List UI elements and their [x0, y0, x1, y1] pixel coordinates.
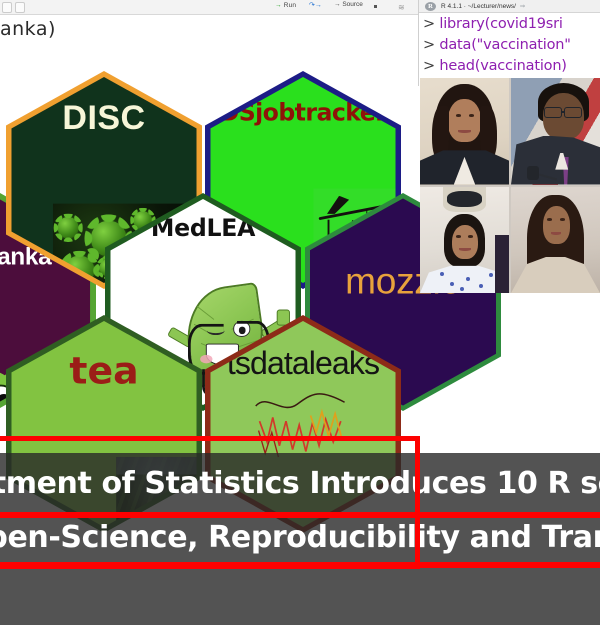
hex-label-dsjobtracker: DSjobtracker [210, 99, 395, 126]
rerun-button[interactable]: ↷→ [309, 1, 322, 9]
portrait-bottom-right [511, 187, 600, 294]
outline-icon[interactable]: ≋ [398, 3, 405, 12]
portrait-top-right [511, 78, 600, 185]
source-label: Source [342, 1, 363, 8]
source-button[interactable]: → Source [334, 1, 363, 8]
console-line: > data("vaccination" [423, 35, 600, 56]
rerun-icon: ↷→ [309, 2, 322, 9]
hex-label-tea: tea [11, 349, 196, 392]
portrait-bottom-left [420, 187, 509, 294]
open-directory-icon[interactable]: ⇒ [520, 3, 525, 10]
red-highlight-rectangle [0, 436, 420, 569]
console-line-text: data("vaccination" [435, 37, 571, 53]
console-working-directory[interactable]: R 4.1.1 · ~/Lecturer/news/ ⇒ [441, 2, 525, 10]
hex-label-tsdataleaks: tsdataleaks [210, 346, 395, 383]
editor-code-line[interactable]: anka) [0, 18, 56, 40]
save-icon[interactable] [2, 2, 12, 13]
portrait-top-left [420, 78, 509, 185]
console-prompt: > [423, 37, 435, 53]
compile-report-icon[interactable] [15, 2, 25, 13]
source-dropdown-icon[interactable] [374, 5, 377, 8]
hex-label-disc: DISC [11, 98, 196, 138]
console-prompt: > [423, 16, 435, 32]
console-tabbar: R R 4.1.1 · ~/Lecturer/news/ ⇒ [419, 0, 600, 13]
source-arrow-icon: → [334, 1, 341, 8]
console-path-text: R 4.1.1 · ~/Lecturer/news/ [441, 3, 516, 10]
run-label: Run [284, 2, 297, 9]
editor-toolbar: → Run ↷→ → Source ≋ [0, 0, 418, 15]
console-line: > library(covid19sri [423, 14, 600, 35]
r-logo-icon: R [425, 2, 436, 11]
screenshot-root: → Run ↷→ → Source ≋ anka) R R 4.1.1 · ~/… [0, 0, 600, 625]
run-arrow-icon: → [275, 2, 282, 9]
console-line-text: library(covid19sri [435, 16, 563, 32]
run-button[interactable]: → Run [272, 1, 299, 10]
team-photo-grid [420, 78, 600, 293]
